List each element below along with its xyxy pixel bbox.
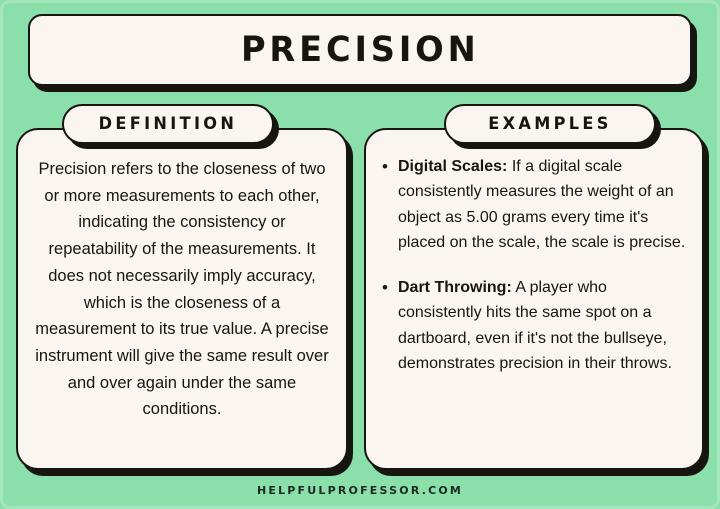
list-item-lead: Digital Scales: (398, 158, 507, 175)
list-item-lead: Dart Throwing: (398, 279, 512, 296)
examples-card: • Digital Scales: If a digital scale con… (364, 128, 704, 470)
infographic-poster: PRECISION Precision refers to the closen… (0, 0, 720, 509)
page-title: PRECISION (241, 33, 480, 68)
bullet-icon: • (382, 154, 398, 255)
list-item: • Digital Scales: If a digital scale con… (382, 154, 688, 255)
definition-header-pill: DEFINITION (62, 104, 274, 144)
examples-list: • Digital Scales: If a digital scale con… (382, 154, 688, 396)
definition-card: Precision refers to the closeness of two… (16, 128, 348, 470)
list-item-body: Dart Throwing: A player who consistently… (398, 275, 688, 376)
examples-header-pill: EXAMPLES (444, 104, 656, 144)
list-item-body: Digital Scales: If a digital scale consi… (398, 154, 688, 255)
definition-header-label: DEFINITION (99, 116, 238, 133)
list-item: • Dart Throwing: A player who consistent… (382, 275, 688, 376)
site-credit: HELPFULPROFESSOR.COM (0, 484, 720, 497)
title-card: PRECISION (28, 14, 692, 86)
definition-text: Precision refers to the closeness of two… (32, 156, 332, 423)
bullet-icon: • (382, 275, 398, 376)
examples-header-label: EXAMPLES (488, 116, 611, 133)
